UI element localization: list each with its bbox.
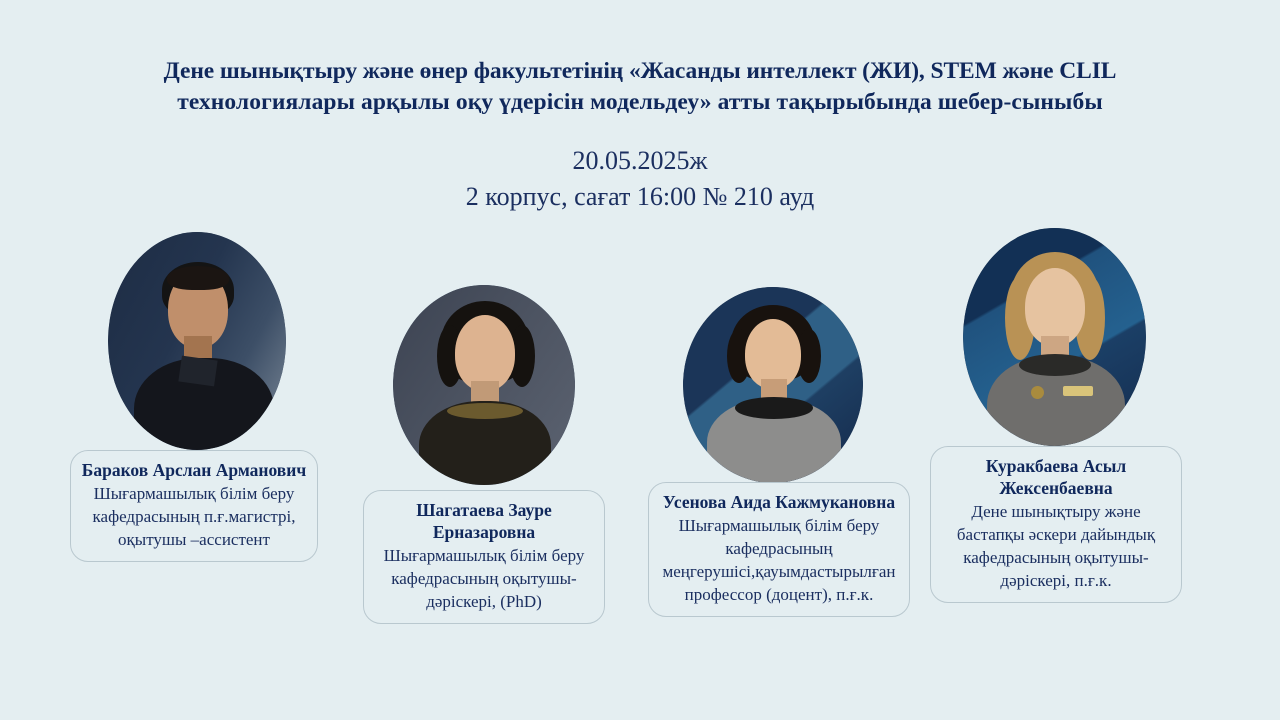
portrait-photo-3 [683, 287, 863, 483]
person-name: Куракбаева Асыл Жексенбаевна [941, 455, 1171, 499]
title-line-1: Дене шынықтыру және өнер факультетінің «… [82, 56, 1198, 87]
portrait-photo-2 [393, 285, 575, 485]
title-line-2: технологиялары арқылы оқу үдерісін модел… [82, 87, 1198, 118]
slide-title: Дене шынықтыру және өнер факультетінің «… [82, 56, 1198, 118]
person-card-4[interactable]: Куракбаева Асыл Жексенбаевна Дене шынықт… [930, 446, 1182, 603]
person-card-2[interactable]: Шагатаева Зауре Ерназаровна Шығармашылық… [363, 490, 605, 624]
portrait-photo-1 [108, 232, 286, 450]
presentation-slide: Дене шынықтыру және өнер факультетінің «… [0, 0, 1280, 720]
portrait-photo-4 [963, 228, 1146, 446]
person-card-3[interactable]: Усенова Аида Кажмукановна Шығармашылық б… [648, 482, 910, 617]
person-role: Шығармашылық білім беру кафедрасының п.ғ… [81, 482, 307, 551]
person-name: Усенова Аида Кажмукановна [659, 491, 899, 513]
person-card-1[interactable]: Бараков Арслан Арманович Шығармашылық бі… [70, 450, 318, 562]
event-details: 20.05.2025ж 2 корпус, сағат 16:00 № 210 … [0, 143, 1280, 215]
event-date: 20.05.2025ж [0, 143, 1280, 179]
person-name: Шагатаева Зауре Ерназаровна [374, 499, 594, 543]
event-venue: 2 корпус, сағат 16:00 № 210 ауд [0, 179, 1280, 215]
person-role: Шығармашылық білім беру кафедрасының оқы… [374, 544, 594, 613]
person-role: Дене шынықтыру және бастапқы әскери дайы… [941, 500, 1171, 592]
person-name: Бараков Арслан Арманович [81, 459, 307, 481]
person-role: Шығармашылық білім беру кафедрасының мең… [659, 514, 899, 606]
